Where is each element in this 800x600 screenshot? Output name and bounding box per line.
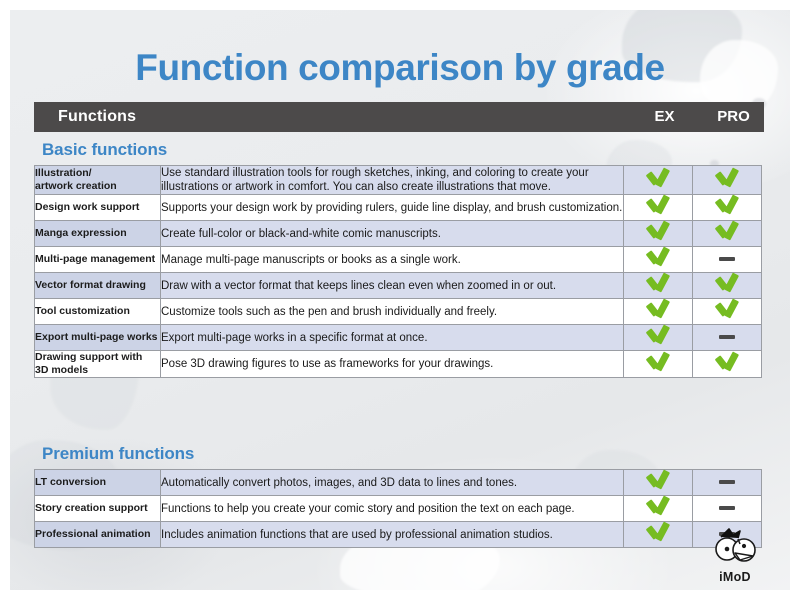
check-icon <box>714 168 740 188</box>
ex-support-cell <box>624 470 693 496</box>
check-icon <box>645 299 671 319</box>
ex-support-cell <box>624 496 693 522</box>
comparison-table: Illustration/artwork creationUse standar… <box>34 165 762 378</box>
check-icon <box>645 522 671 542</box>
function-name-cell: Vector format drawing <box>35 273 161 299</box>
function-name-cell: Illustration/artwork creation <box>35 166 161 195</box>
function-description-cell: Manage multi-page manuscripts or books a… <box>161 247 624 273</box>
header-label-ex: EX <box>630 102 699 132</box>
section-1: Basic functionsIllustration/artwork crea… <box>34 140 768 378</box>
function-description-cell: Export multi-page works in a specific fo… <box>161 325 624 351</box>
ex-support-cell <box>624 221 693 247</box>
pro-support-cell <box>693 470 762 496</box>
table-row: Drawing support with3D modelsPose 3D dra… <box>35 351 762 378</box>
table-row: Manga expressionCreate full-color or bla… <box>35 221 762 247</box>
brand-mark: iMoD <box>698 525 772 584</box>
dash-icon <box>719 480 735 484</box>
dash-icon <box>719 335 735 339</box>
pro-support-cell <box>693 299 762 325</box>
imod-mascot-logo-icon <box>707 525 763 567</box>
function-description-cell: Create full-color or black-and-white com… <box>161 221 624 247</box>
check-icon <box>714 221 740 241</box>
function-description-cell: Draw with a vector format that keeps lin… <box>161 273 624 299</box>
ex-support-cell <box>624 299 693 325</box>
check-icon <box>714 273 740 293</box>
table-row: Illustration/artwork creationUse standar… <box>35 166 762 195</box>
function-description-cell: Pose 3D drawing figures to use as framew… <box>161 351 624 378</box>
check-icon <box>645 273 671 293</box>
pro-support-cell <box>693 247 762 273</box>
function-name-cell: LT conversion <box>35 470 161 496</box>
function-description-cell: Use standard illustration tools for roug… <box>161 166 624 195</box>
function-description-cell: Supports your design work by providing r… <box>161 195 624 221</box>
table-row: Multi-page managementManage multi-page m… <box>35 247 762 273</box>
table-row: Export multi-page worksExport multi-page… <box>35 325 762 351</box>
table-header-bar: Functions EX PRO <box>34 102 764 132</box>
ex-support-cell <box>624 325 693 351</box>
pro-support-cell <box>693 351 762 378</box>
table-row: Design work supportSupports your design … <box>35 195 762 221</box>
check-icon <box>714 352 740 372</box>
table-row: Tool customizationCustomize tools such a… <box>35 299 762 325</box>
table-row: LT conversionAutomatically convert photo… <box>35 470 762 496</box>
page-title: Function comparison by grade <box>10 46 790 90</box>
header-label-pro: PRO <box>699 102 768 132</box>
pro-support-cell <box>693 221 762 247</box>
check-icon <box>645 352 671 372</box>
dash-icon <box>719 506 735 510</box>
ex-support-cell <box>624 247 693 273</box>
section-title: Basic functions <box>42 140 768 160</box>
dash-icon <box>719 257 735 261</box>
function-name-cell: Design work support <box>35 195 161 221</box>
table-row: Professional animationIncludes animation… <box>35 522 762 548</box>
check-icon <box>645 325 671 345</box>
check-icon <box>645 195 671 215</box>
function-name-cell: Story creation support <box>35 496 161 522</box>
ex-support-cell <box>624 273 693 299</box>
check-icon <box>714 195 740 215</box>
header-label-functions: Functions <box>58 102 136 132</box>
table-row: Vector format drawingDraw with a vector … <box>35 273 762 299</box>
page-panel: Function comparison by grade Functions E… <box>10 10 790 590</box>
check-icon <box>645 221 671 241</box>
brand-label: iMoD <box>698 570 772 584</box>
pro-support-cell <box>693 195 762 221</box>
table-row: Story creation supportFunctions to help … <box>35 496 762 522</box>
check-icon <box>645 470 671 490</box>
function-description-cell: Automatically convert photos, images, an… <box>161 470 624 496</box>
function-name-cell: Manga expression <box>35 221 161 247</box>
ex-support-cell <box>624 522 693 548</box>
function-name-cell: Drawing support with3D models <box>35 351 161 378</box>
pro-support-cell <box>693 496 762 522</box>
function-description-cell: Customize tools such as the pen and brus… <box>161 299 624 325</box>
pro-support-cell <box>693 325 762 351</box>
function-name-cell: Professional animation <box>35 522 161 548</box>
comparison-table: LT conversionAutomatically convert photo… <box>34 469 762 548</box>
ex-support-cell <box>624 166 693 195</box>
check-icon <box>714 299 740 319</box>
ex-support-cell <box>624 351 693 378</box>
function-name-cell: Export multi-page works <box>35 325 161 351</box>
pro-support-cell <box>693 166 762 195</box>
function-name-cell: Tool customization <box>35 299 161 325</box>
screenshot-canvas: Function comparison by grade Functions E… <box>0 0 800 600</box>
section-2: Premium functionsLT conversionAutomatica… <box>34 444 768 548</box>
function-description-cell: Functions to help you create your comic … <box>161 496 624 522</box>
function-name-cell: Multi-page management <box>35 247 161 273</box>
check-icon <box>645 168 671 188</box>
check-icon <box>645 247 671 267</box>
function-description-cell: Includes animation functions that are us… <box>161 522 624 548</box>
ex-support-cell <box>624 195 693 221</box>
section-title: Premium functions <box>42 444 768 464</box>
pro-support-cell <box>693 273 762 299</box>
check-icon <box>645 496 671 516</box>
